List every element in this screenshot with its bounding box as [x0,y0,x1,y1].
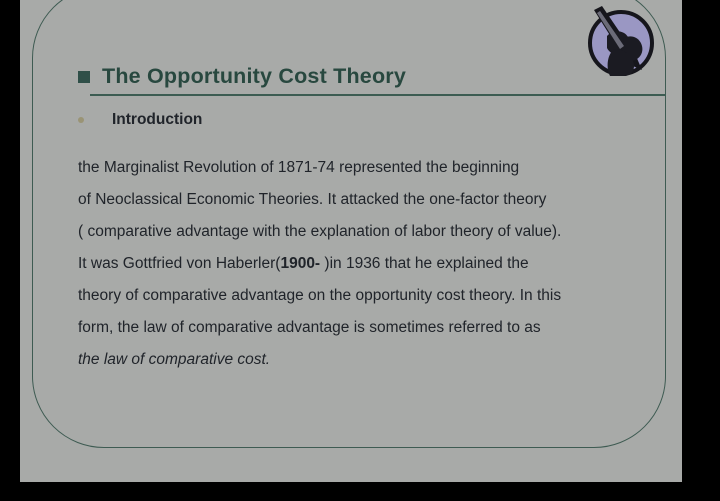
body-line: the law of comparative cost. [78,344,678,376]
body-text-run: the law of comparative cost. [78,351,270,368]
body-line: theory of comparative advantage on the o… [78,280,678,312]
round-bullet-icon [78,117,84,123]
body-text-run: It was Gottfried von Haberler( [78,255,280,272]
body-text-run: of Neoclassical Economic Theories. It at… [78,191,546,208]
body-text: the Marginalist Revolution of 1871-74 re… [78,152,678,376]
body-line: of Neoclassical Economic Theories. It at… [78,184,678,216]
body-text-run: the Marginalist Revolution of 1871-74 re… [78,159,519,176]
slide-title-row: The Opportunity Cost Theory [78,64,668,89]
square-bullet-icon [78,71,90,83]
body-text-run: form, the law of comparative advantage i… [78,319,541,336]
body-line: form, the law of comparative advantage i… [78,312,678,344]
body-line: the Marginalist Revolution of 1871-74 re… [78,152,678,184]
slide-viewport: The Opportunity Cost Theory Introduction… [0,0,720,501]
slide-subtitle-row: Introduction [78,111,202,129]
body-line: ( comparative advantage with the explana… [78,216,678,248]
body-text-run: 1900- [280,255,320,272]
page-title: The Opportunity Cost Theory [102,64,406,89]
slide-canvas: The Opportunity Cost Theory Introduction… [20,0,682,482]
body-text-run: theory of comparative advantage on the o… [78,287,561,304]
body-text-run: )in 1936 that he explained the [320,255,529,272]
body-line: It was Gottfried von Haberler(1900- )in … [78,248,678,280]
title-underline [90,94,665,96]
body-text-run: ( comparative advantage with the explana… [78,223,561,240]
section-subtitle: Introduction [112,111,202,129]
